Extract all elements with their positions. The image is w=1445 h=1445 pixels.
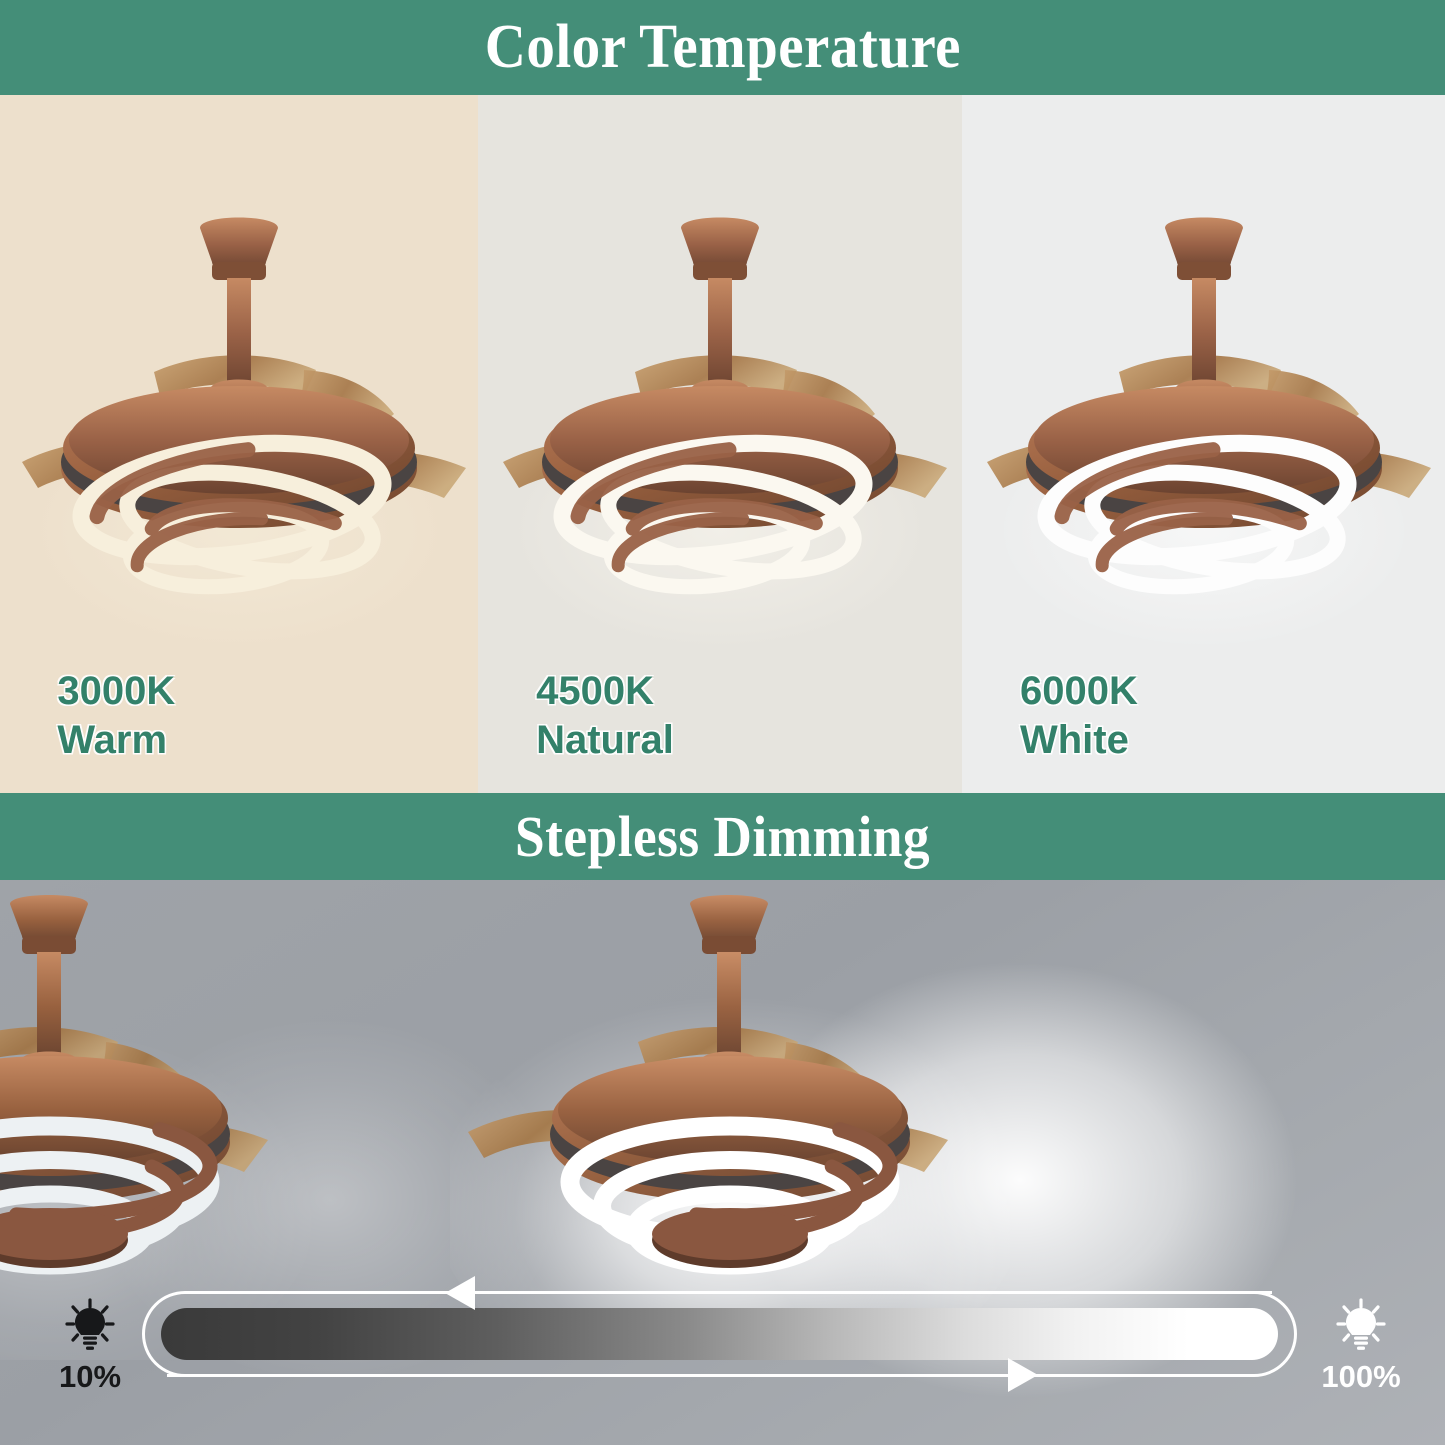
fan-svg-6000k xyxy=(969,200,1439,670)
color-temperature-label-3000k: 3000K Warm xyxy=(57,667,175,765)
color-temperature-panel-4500k: 4500K Natural xyxy=(478,95,962,793)
ceiling-fan-image-bright xyxy=(450,890,1010,1360)
color-temperature-header-band: Color Temperature xyxy=(0,0,1445,95)
bulb-bright-icon xyxy=(1335,1298,1387,1352)
dimming-slider-row[interactable]: 10% xyxy=(0,1303,1445,1423)
color-temperature-label-4500k: 4500K Natural xyxy=(536,667,674,765)
kelvin-name-6000k: White xyxy=(1020,716,1138,765)
stepless-dimming-section: 10% xyxy=(0,880,1445,1445)
arrow-left-icon xyxy=(445,1276,475,1310)
color-temperature-title: Color Temperature xyxy=(484,12,960,83)
infographic-page: Color Temperature xyxy=(0,0,1445,1445)
dim-level-max-label: 100% xyxy=(1301,1359,1421,1395)
decrease-arrow-line xyxy=(475,1291,1272,1294)
ceiling-fan-image-dim xyxy=(0,890,330,1360)
stepless-dimming-title: Stepless Dimming xyxy=(515,803,930,870)
ceiling-fan-image-4500k xyxy=(485,200,955,670)
dim-level-min-group: 10% xyxy=(30,1298,150,1395)
increase-arrow-line xyxy=(167,1374,1008,1377)
kelvin-name-3000k: Warm xyxy=(57,716,175,765)
fan-svg-4500k xyxy=(485,200,955,670)
dim-level-min-label: 10% xyxy=(30,1359,150,1395)
ceiling-fan-image-3000k xyxy=(4,200,474,670)
ceiling-fan-image-6000k xyxy=(969,200,1439,670)
dimming-slider-gradient-fill[interactable] xyxy=(161,1308,1278,1360)
dimming-slider-track[interactable] xyxy=(142,1291,1297,1377)
bulb-dim-icon xyxy=(64,1298,116,1352)
color-temperature-label-6000k: 6000K White xyxy=(1020,667,1138,765)
kelvin-name-4500k: Natural xyxy=(536,716,674,765)
color-temperature-panel-3000k: 3000K Warm xyxy=(0,95,478,793)
arrow-right-icon xyxy=(1008,1358,1038,1392)
fan-svg-3000k xyxy=(4,200,474,670)
kelvin-value-6000k: 6000K xyxy=(1020,667,1138,716)
fan-svg-bright xyxy=(450,890,1010,1360)
color-temperature-section: 3000K Warm xyxy=(0,95,1445,793)
dim-level-max-group: 100% xyxy=(1301,1298,1421,1395)
color-temperature-panel-6000k: 6000K White xyxy=(962,95,1445,793)
kelvin-value-3000k: 3000K xyxy=(57,667,175,716)
fan-svg-dim xyxy=(0,890,330,1360)
stepless-dimming-header-band: Stepless Dimming xyxy=(0,793,1445,880)
kelvin-value-4500k: 4500K xyxy=(536,667,674,716)
